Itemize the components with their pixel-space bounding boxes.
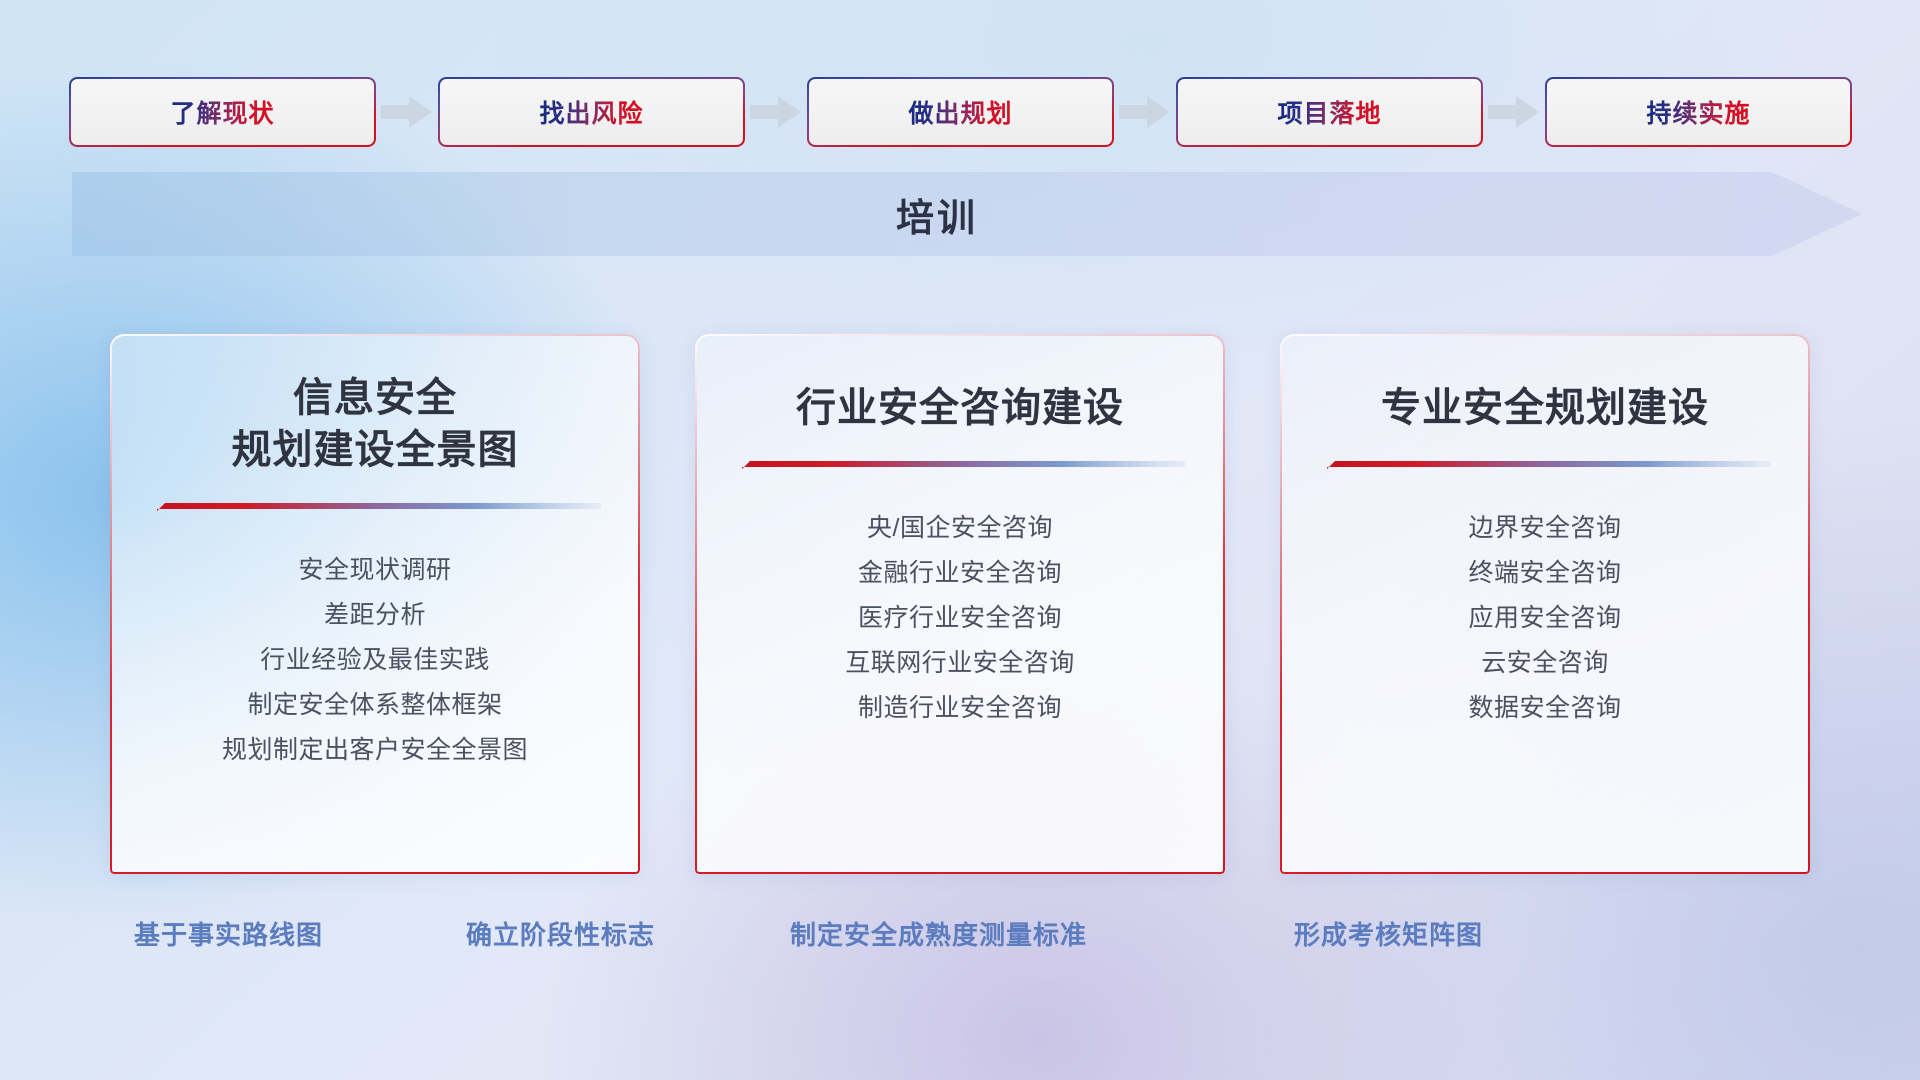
footnote-label: 制定安全成熟度测量标准 xyxy=(790,915,1087,952)
step-label: 找出风险 xyxy=(539,94,643,130)
card-group: 信息安全 规划建设全景图 安全现状调研 xyxy=(110,334,1810,874)
list-item: 安全现状调研 xyxy=(110,548,640,593)
card-industry-security-consulting[interactable]: 行业安全咨询建设 央/国企安全咨询 xyxy=(695,334,1225,874)
card-divider xyxy=(1319,460,1771,472)
list-item: 制定安全体系整体框架 xyxy=(110,683,640,728)
step-label: 了解现状 xyxy=(170,94,274,130)
list-item: 云安全咨询 xyxy=(1280,641,1810,686)
list-item: 数据安全咨询 xyxy=(1280,686,1810,731)
card-title: 行业安全咨询建设 xyxy=(695,382,1225,434)
slide-canvas: 了解现状 找出风险 做出规划 项目落地 持续实施 xyxy=(0,0,1920,1080)
arrow-right-icon xyxy=(1488,95,1540,129)
list-item: 制造行业安全咨询 xyxy=(695,686,1225,731)
step-box-4[interactable]: 项目落地 xyxy=(1177,78,1482,146)
training-banner: 培训 xyxy=(72,172,1862,256)
card-item-list: 央/国企安全咨询 金融行业安全咨询 医疗行业安全咨询 互联网行业安全咨询 制造行… xyxy=(695,506,1225,731)
card-item-list: 安全现状调研 差距分析 行业经验及最佳实践 制定安全体系整体框架 规划制定出客户… xyxy=(110,548,640,773)
list-item: 差距分析 xyxy=(110,593,640,638)
list-item: 行业经验及最佳实践 xyxy=(110,638,640,683)
step-box-2[interactable]: 找出风险 xyxy=(439,78,744,146)
step-box-1[interactable]: 了解现状 xyxy=(70,78,375,146)
card-divider xyxy=(149,502,601,514)
card-divider xyxy=(734,460,1186,472)
arrow-right-icon xyxy=(750,95,802,129)
process-step-bar: 了解现状 找出风险 做出规划 项目落地 持续实施 xyxy=(70,78,1860,146)
list-item: 金融行业安全咨询 xyxy=(695,551,1225,596)
list-item: 边界安全咨询 xyxy=(1280,506,1810,551)
card-title: 专业安全规划建设 xyxy=(1280,382,1810,434)
step-box-3[interactable]: 做出规划 xyxy=(808,78,1113,146)
footnote-label: 形成考核矩阵图 xyxy=(1294,915,1483,952)
card-item-list: 边界安全咨询 终端安全咨询 应用安全咨询 云安全咨询 数据安全咨询 xyxy=(1280,506,1810,731)
step-label: 持续实施 xyxy=(1646,94,1750,130)
banner-title: 培训 xyxy=(72,172,1862,256)
list-item: 央/国企安全咨询 xyxy=(695,506,1225,551)
step-box-5[interactable]: 持续实施 xyxy=(1546,78,1851,146)
list-item: 终端安全咨询 xyxy=(1280,551,1810,596)
arrow-right-icon xyxy=(1119,95,1171,129)
list-item: 规划制定出客户安全全景图 xyxy=(110,728,640,773)
arrow-right-icon xyxy=(381,95,433,129)
footnote-label: 确立阶段性标志 xyxy=(466,915,655,952)
list-item: 医疗行业安全咨询 xyxy=(695,596,1225,641)
list-item: 应用安全咨询 xyxy=(1280,596,1810,641)
step-label: 项目落地 xyxy=(1277,94,1381,130)
footnote-label: 基于事实路线图 xyxy=(134,915,323,952)
list-item: 互联网行业安全咨询 xyxy=(695,641,1225,686)
card-title: 信息安全 规划建设全景图 xyxy=(110,372,640,476)
step-label: 做出规划 xyxy=(908,94,1012,130)
card-information-security-panorama[interactable]: 信息安全 规划建设全景图 安全现状调研 xyxy=(110,334,640,874)
card-professional-security-planning[interactable]: 专业安全规划建设 边界安全咨询 xyxy=(1280,334,1810,874)
footnote-row: 基于事实路线图 确立阶段性标志 制定安全成熟度测量标准 形成考核矩阵图 xyxy=(0,915,1920,959)
